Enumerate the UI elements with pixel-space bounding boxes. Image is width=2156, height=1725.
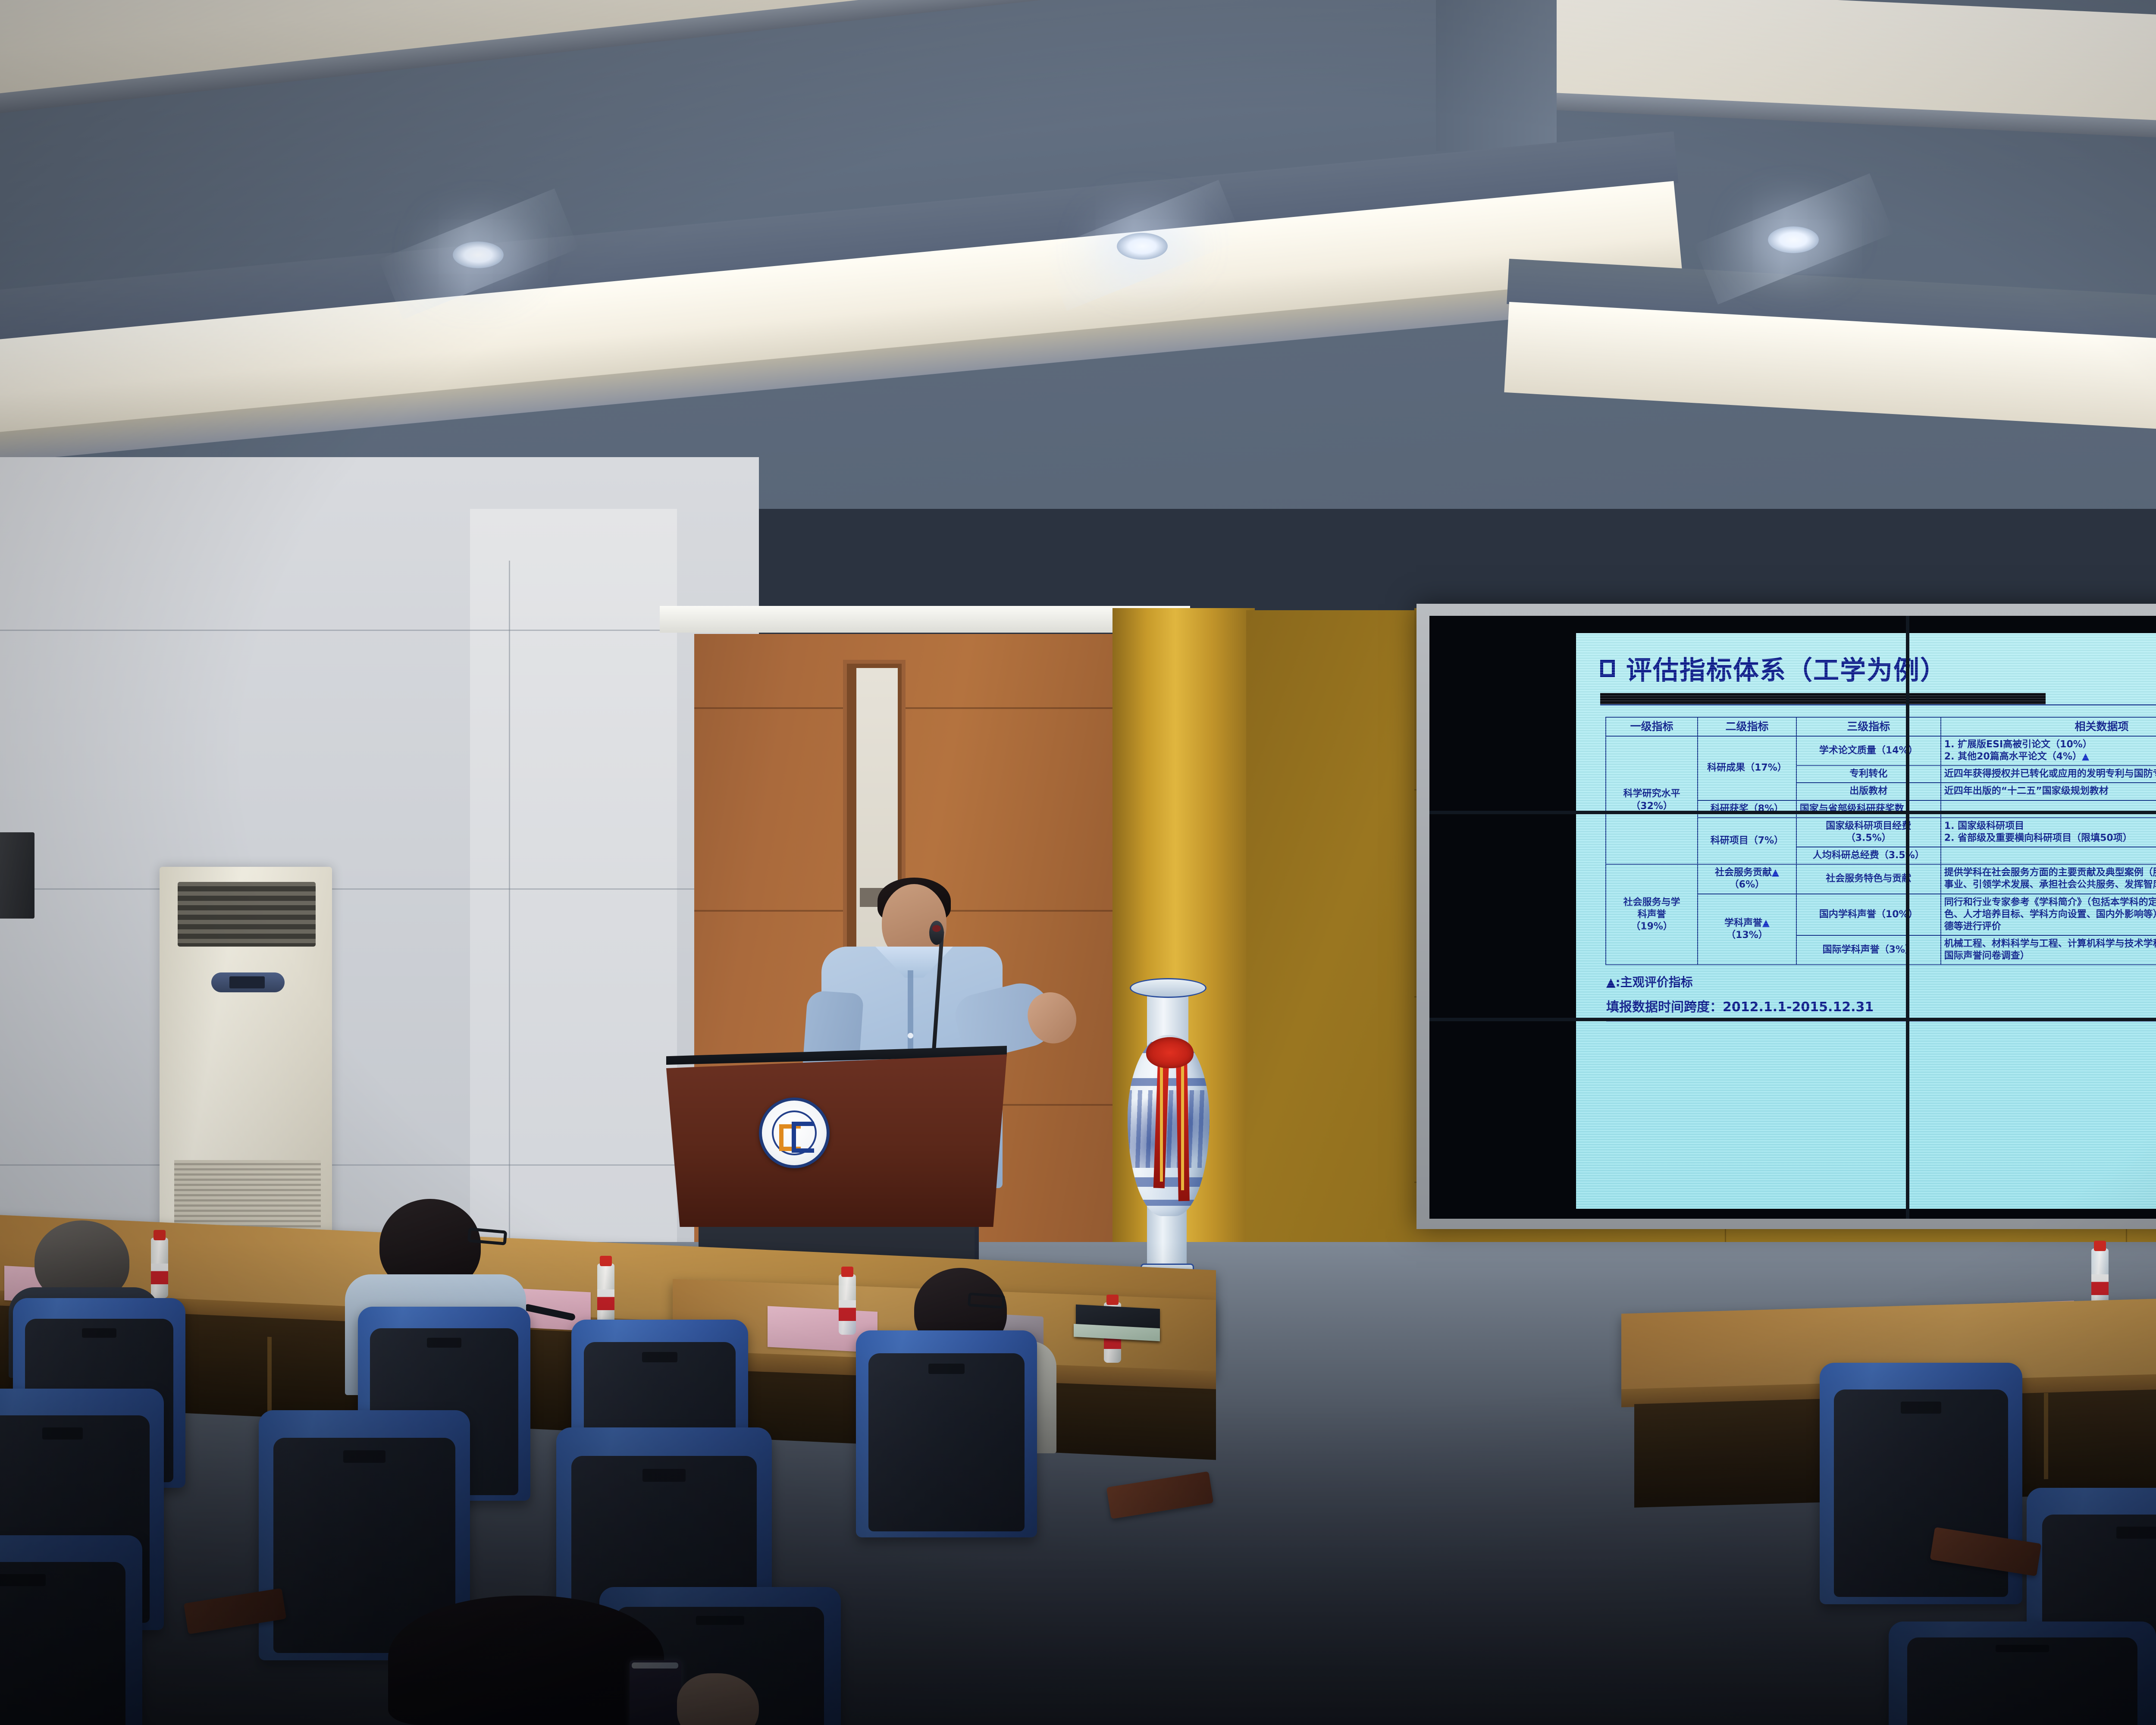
- title-underline-thin: [1600, 704, 2156, 706]
- eyeglasses-icon: [968, 1292, 1005, 1309]
- ribbon-gold-stripe: [1160, 1065, 1163, 1182]
- presentation-screen[interactable]: 评估指标体系（工学为例） 一级指标 二级指标 三级指标 相关数据项 科学研究水平…: [1576, 633, 2156, 1209]
- air-conditioner: [160, 867, 332, 1246]
- cell-level3: 出版教材: [1796, 783, 1941, 800]
- cell-level3: 国家与省部级科研获奖数: [1796, 800, 1941, 818]
- col-header-level2: 二级指标: [1698, 717, 1796, 736]
- cell-data-items: [1941, 847, 2156, 864]
- cell-level3: 国内学科声誉（10%）: [1796, 894, 1941, 935]
- microphone-icon: [929, 921, 944, 945]
- cell-level2: 科研成果（17%）: [1698, 736, 1796, 800]
- podium-emblem: [759, 1098, 830, 1168]
- cell-data-items: 同行和行业专家参考《学科简介》（包括本学科的定位与目标、优势与特色、人才培养目标…: [1941, 894, 2156, 935]
- wall-seam: [0, 1164, 759, 1166]
- footnote-period: 填报数据时间跨度：2012.1.1-2015.12.31: [1606, 996, 2156, 1015]
- bottle-label: [839, 1300, 856, 1321]
- cell-data-items: 提供学科在社会服务方面的主要贡献及典型案例（服务地方经济建设或国防事业、引领学术…: [1941, 864, 2156, 894]
- ceiling-downlight-icon: [1768, 226, 1819, 253]
- ceiling-soffit: [1436, 0, 1557, 151]
- table-row: 社会服务与学科声誉（19%） 社会服务贡献▲（6%） 社会服务特色与贡献 提供学…: [1606, 864, 2156, 894]
- crown-molding: [660, 606, 1190, 633]
- ac-grill: [178, 882, 316, 947]
- ac-control-panel[interactable]: [211, 972, 285, 992]
- cell-data-items: [1941, 800, 2156, 818]
- ceiling-downlight-icon: [1117, 233, 1168, 260]
- bottle-cap: [1106, 1295, 1119, 1305]
- conference-room-scene: 评估指标体系（工学为例） 一级指标 二级指标 三级指标 相关数据项 科学研究水平…: [0, 0, 2156, 1725]
- wall-seam: [509, 561, 510, 1242]
- auditorium-seat[interactable]: [856, 1330, 1037, 1537]
- wall-seam: [0, 630, 759, 631]
- col-header-data-items: 相关数据项: [1941, 717, 2156, 736]
- auditorium-seat-foreground[interactable]: [0, 1535, 142, 1725]
- cell-level3: 人均科研总经费（3.5%）: [1796, 847, 1941, 864]
- square-bullet-icon: [1600, 660, 1615, 677]
- video-wall-panel-seam: [1906, 616, 1909, 1219]
- ribbon-bow: [1146, 1037, 1194, 1068]
- video-wall-panel-seam: [1429, 811, 2156, 814]
- ac-display: [229, 976, 265, 988]
- cell-level1: 社会服务与学科声誉（19%）: [1606, 864, 1698, 965]
- cell-data-items: 1. 扩展版ESI高被引论文（10%）2. 其他20篇高水平论文（4%）▲: [1941, 736, 2156, 765]
- slide-title-row: 评估指标体系（工学为例）: [1600, 649, 2156, 687]
- ceiling-downlight-icon: [453, 241, 504, 268]
- slide-title: 评估指标体系（工学为例）: [1626, 649, 1947, 687]
- table-header-row: 一级指标 二级指标 三级指标 相关数据项: [1606, 717, 2156, 736]
- bottle-label: [2091, 1274, 2109, 1295]
- bottle-label: [151, 1264, 168, 1284]
- cell-level3: 专利转化: [1796, 765, 1941, 783]
- auditorium-seat-foreground[interactable]: [1889, 1621, 2156, 1725]
- cell-level2: 科研项目（7%）: [1698, 818, 1796, 864]
- cell-level1: 科学研究水平（32%）: [1606, 736, 1698, 864]
- cell-level3: 社会服务特色与贡献: [1796, 864, 1941, 894]
- col-header-level3: 三级指标: [1796, 717, 1941, 736]
- cell-data-items: 机械工程、材料科学与工程、计算机科学与技术学科（试点委托第三方进行国际声誉问卷调…: [1941, 935, 2156, 965]
- bottle-cap: [154, 1230, 166, 1240]
- slide-content: 评估指标体系（工学为例） 一级指标 二级指标 三级指标 相关数据项 科学研究水平…: [1576, 633, 2156, 1209]
- cell-level2: 学科声誉▲（13%）: [1698, 894, 1796, 965]
- cell-level3: 学术论文质量（14%）: [1796, 736, 1941, 765]
- bottle-cap: [841, 1267, 853, 1277]
- vase-mouth: [1130, 978, 1206, 998]
- cell-level3: 国家级科研项目经费（3.5%）: [1796, 818, 1941, 847]
- ribbon-gold-stripe: [1181, 1065, 1184, 1190]
- evaluation-index-table: 一级指标 二级指标 三级指标 相关数据项 科学研究水平（32%） 科研成果（17…: [1605, 717, 2156, 965]
- phone-held[interactable]: [630, 1660, 681, 1725]
- shirt-button: [908, 1033, 913, 1038]
- wall-center-white: [470, 509, 677, 1242]
- bottle-label: [597, 1289, 614, 1310]
- cell-data-items: 近四年获得授权并已转化或应用的发明专利与国防专利: [1941, 765, 2156, 783]
- phone-screen-glow: [632, 1662, 678, 1669]
- video-wall-panel-seam: [1429, 1018, 2156, 1021]
- table-row: 科学研究水平（32%） 科研成果（17%） 学术论文质量（14%） 1. 扩展版…: [1606, 736, 2156, 765]
- title-underline-bar: [1600, 693, 2046, 704]
- cell-level2: 社会服务贡献▲（6%）: [1698, 864, 1796, 894]
- foreground-person-head: [388, 1596, 664, 1725]
- shelf-divider: [2044, 1393, 2048, 1479]
- bottle-cap: [2094, 1241, 2106, 1251]
- bottle-cap: [600, 1256, 612, 1266]
- cell-level2: 科研获奖（8%）: [1698, 800, 1796, 818]
- cell-data-items: 近四年出版的“十二五”国家级规划教材: [1941, 783, 2156, 800]
- podium: [666, 1054, 1007, 1227]
- cell-level3: 国际学科声誉（3%）: [1796, 935, 1941, 965]
- footnote-legend: ▲:主观评价指标: [1606, 973, 2156, 990]
- col-header-level1: 一级指标: [1606, 717, 1698, 736]
- wall-seam: [0, 888, 759, 890]
- cell-data-items: 1. 国家级科研项目2. 省部级及重要横向科研项目（限填50项）: [1941, 818, 2156, 847]
- wall-speaker-icon: [0, 832, 34, 919]
